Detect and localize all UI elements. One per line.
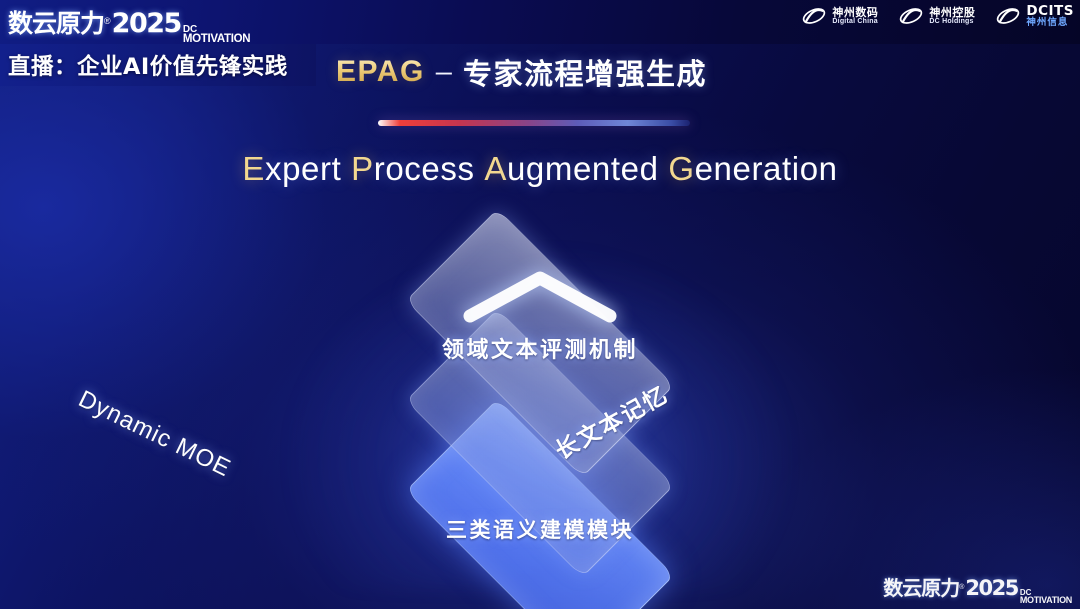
title-chinese: 专家流程增强生成 (463, 51, 707, 93)
watermark-motivation-label: MOTIVATION (1020, 596, 1072, 605)
partner-name-cn: 神州数码 (832, 7, 878, 19)
subtitle-word-process: rocess (374, 150, 475, 187)
partner-label: 神州数码 Digital China (832, 7, 878, 26)
layer-label-top: 领域文本评测机制 (442, 332, 638, 364)
partner-label: DCITS 神州信息 (1026, 4, 1074, 28)
diagram-layer-top: 领域文本评测机制 (290, 218, 790, 468)
watermark-year: 2025 (965, 576, 1017, 600)
partner-logo-group: 神州数码 Digital China 神州控股 DC Holdings (801, 4, 1074, 28)
watermark-logo: 数云原力 ® 2025 DC MOTIVATION (883, 572, 1072, 605)
page-title: EPAG – 专家流程增强生成 (336, 50, 856, 94)
subtitle-cap-p: P (351, 150, 374, 187)
top-bar: 数云原力 ® 2025 DC MOTIVATION 神州数码 Digital C… (0, 0, 1080, 44)
watermark-registered-mark: ® (959, 584, 964, 591)
title-acronym: EPAG (336, 55, 425, 89)
layer-label-dynamic-moe: Dynamic MOE (74, 385, 235, 483)
title-dash: – (436, 56, 452, 89)
subtitle-cap-e: E (242, 150, 265, 187)
subtitle-cap-g: G (668, 150, 694, 187)
swoosh-icon (898, 4, 924, 28)
subtitle-cap-a: A (484, 150, 507, 187)
brand-name-cn: 数云原力 (8, 4, 104, 40)
partner-name-cn: 神州控股 (929, 7, 975, 19)
partner-name-cn: 神州信息 (1026, 18, 1074, 28)
watermark-dc-motivation: DC MOTIVATION (1020, 589, 1072, 605)
brand-logo: 数云原力 ® 2025 DC MOTIVATION (8, 4, 250, 32)
live-banner: 直播：企业AI价值先锋实践 (0, 44, 316, 86)
slide-stage: 数云原力 ® 2025 DC MOTIVATION 神州数码 Digital C… (0, 0, 1080, 609)
partner-logo-digital-china: 神州数码 Digital China (801, 4, 878, 28)
partner-logo-dc-holdings: 神州控股 DC Holdings (898, 4, 975, 28)
brand-registered-mark: ® (104, 16, 111, 26)
chevron-up-icon (460, 268, 620, 326)
layered-diagram: 三类语义建模模块 Dynamic MOE 长文本记忆 领域文本评测机制 (0, 218, 1080, 609)
gradient-divider (378, 120, 690, 126)
subtitle-word-augmented: ugmented (507, 150, 659, 187)
swoosh-icon (995, 4, 1021, 28)
subtitle-word-generation: eneration (695, 150, 838, 187)
brand-motivation-label: MOTIVATION (183, 34, 250, 46)
brand-dc-motivation: DC MOTIVATION (183, 25, 250, 46)
subtitle: Expert Process Augmented Generation (0, 150, 1080, 188)
partner-logo-dcits: DCITS 神州信息 (995, 4, 1074, 28)
live-banner-text: 直播：企业AI价值先锋实践 (0, 49, 288, 81)
brand-year: 2025 (112, 8, 181, 39)
layer-label-bottom: 三类语义建模模块 (446, 514, 634, 544)
partner-name-en: Digital China (832, 18, 878, 25)
partner-label: 神州控股 DC Holdings (929, 7, 975, 26)
watermark-name-cn: 数云原力 (883, 572, 959, 601)
swoosh-icon (801, 4, 827, 28)
partner-name-en: DC Holdings (929, 18, 975, 25)
subtitle-word-expert: xpert (265, 150, 341, 187)
